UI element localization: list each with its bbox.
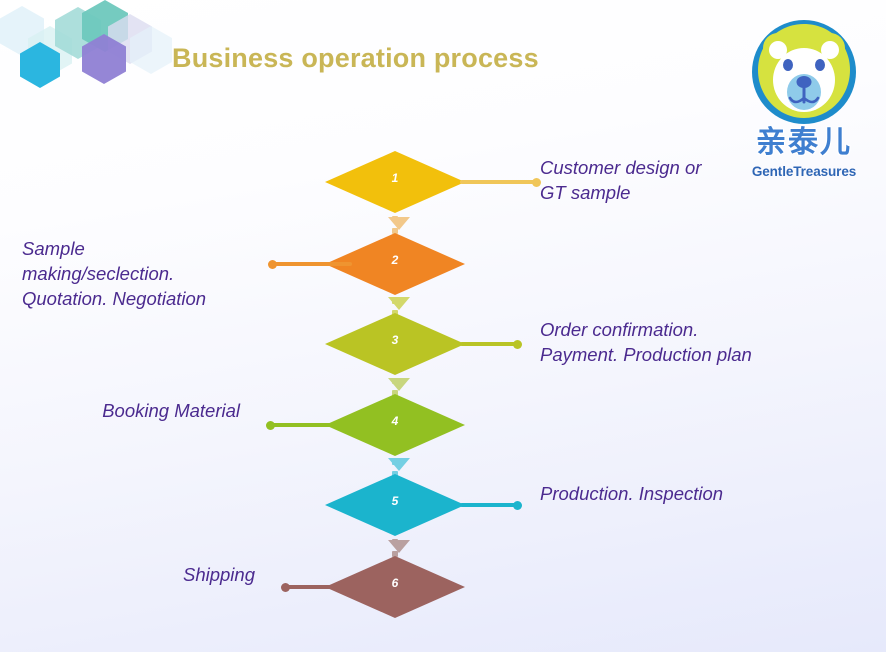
step-diamond[interactable] bbox=[325, 313, 465, 375]
step-flow-connector bbox=[388, 378, 402, 391]
page-title: Business operation process bbox=[172, 43, 539, 74]
step-connector-line bbox=[460, 342, 516, 346]
step-label: Sample making/seclection. Quotation. Neg… bbox=[0, 236, 256, 311]
step-connector-dot bbox=[266, 421, 275, 430]
step-label: Shipping bbox=[0, 562, 269, 587]
connector-arrowhead bbox=[388, 540, 410, 553]
step-label: Booking Material bbox=[0, 398, 254, 423]
step-flow-connector bbox=[388, 298, 402, 310]
step-connector-dot bbox=[281, 583, 290, 592]
step-connector-dot bbox=[513, 501, 522, 510]
step-connector-line bbox=[460, 180, 535, 184]
step-diamond[interactable] bbox=[325, 474, 465, 536]
step-connector-dot bbox=[513, 340, 522, 349]
step-connector-dot bbox=[268, 260, 277, 269]
slide-canvas: Business operation process 亲泰儿 GentleTre… bbox=[0, 0, 886, 652]
step-connector-line bbox=[460, 503, 516, 507]
hexagon-cluster-decoration bbox=[0, 0, 150, 85]
company-logo: 亲泰儿 GentleTreasures bbox=[736, 18, 872, 186]
logo-brand-name: GentleTreasures bbox=[736, 164, 872, 179]
step-label: Order confirmation. Payment. Production … bbox=[540, 317, 752, 367]
step-label: Production. Inspection bbox=[540, 481, 723, 506]
step-diamond[interactable] bbox=[325, 151, 465, 213]
step-connector-line bbox=[272, 262, 352, 266]
logo-chinese-name: 亲泰儿 bbox=[736, 126, 872, 160]
connector-arrowhead bbox=[388, 297, 410, 310]
step-connector-line bbox=[285, 585, 353, 589]
step-flow-connector bbox=[388, 216, 402, 230]
connector-arrowhead bbox=[388, 378, 410, 391]
step-label: Customer design or GT sample bbox=[540, 155, 701, 205]
connector-arrowhead bbox=[388, 458, 410, 471]
step-flow-connector bbox=[388, 539, 402, 553]
step-connector-line bbox=[272, 423, 352, 427]
connector-arrowhead bbox=[388, 217, 410, 230]
step-flow-connector bbox=[388, 459, 402, 471]
bear-face-logo-icon bbox=[750, 18, 858, 126]
